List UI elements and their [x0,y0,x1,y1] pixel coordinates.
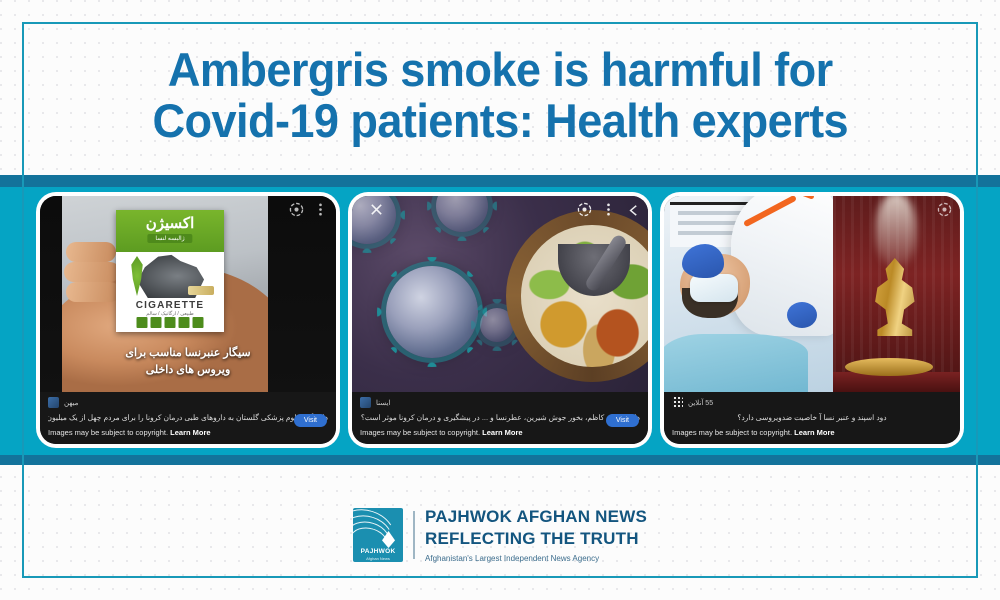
screenshot-card-row: اکسیژن ژالبسه لنسا CIGARETTE طبیعی / ارگ… [0,175,1000,465]
pack-badge-icon [137,317,148,328]
visit-button[interactable]: Visit [606,414,639,427]
card-2-source-row: ایسنا [360,397,640,408]
learn-more-link[interactable]: Learn More [482,428,522,437]
pack-badge: ژالبسه لنسا [147,234,192,243]
pajhwok-logo[interactable]: PAJHWOK Afghan News PAJHWOK AFGHAN NEWS … [353,506,647,563]
card-3-source-row: 55 آنلاین [672,397,952,408]
more-options-icon[interactable] [313,202,328,217]
lens-icon[interactable] [289,202,304,217]
logo-mark-name: PAJHWOK [353,548,403,555]
pack-label: CIGARETTE [116,300,224,311]
card-1-copyright: Images may be subject to copyright. Lear… [48,428,328,437]
favicon-icon [360,397,371,408]
card-3-caption-text: دود اسپند و عنبر نسا آ خاصیت ضدویروسی دا… [672,413,952,423]
brass-tray [845,358,933,376]
finger-shape [64,262,120,282]
learn-more-link[interactable]: Learn More [170,428,210,437]
lens-icon[interactable] [937,202,952,217]
logo-text-block: PAJHWOK AFGHAN NEWS REFLECTING THE TRUTH… [425,506,647,563]
logo-mark-sub: Afghan News [353,556,403,561]
card-2-toolbar [352,196,648,222]
bedsheet [664,334,808,392]
share-icon[interactable] [625,202,640,217]
cigarette-sticks [188,286,214,295]
pack-badge-icon [193,317,204,328]
card-3-toolbar [664,196,960,222]
pack-icon-row [137,317,204,328]
finger-shape [66,282,120,302]
screenshot-card-cigarette[interactable]: اکسیژن ژالبسه لنسا CIGARETTE طبیعی / ارگ… [40,196,336,444]
pack-badge-icon [179,317,190,328]
footer: PAJHWOK Afghan News PAJHWOK AFGHAN NEWS … [0,470,1000,600]
card-3-caption: 55 آنلاین دود اسپند و عنبر نسا آ خاصیت ض… [664,392,960,444]
oxygen-mask [690,274,738,302]
headline-line-1: Ambergris smoke is harmful for [168,45,833,96]
logo-tagline: REFLECTING THE TRUTH [425,528,647,550]
favicon-icon [672,397,683,408]
card-2-image [352,196,648,392]
card-1-image: اکسیژن ژالبسه لنسا CIGARETTE طبیعی / ارگ… [40,196,336,392]
lens-icon[interactable] [577,202,592,217]
pack-badge-icon [165,317,176,328]
card-2-caption: ایسنا داروی امام کاظم، بخور جوش شیرین، ع… [352,392,648,444]
card-1-caption: میهن دانشگاه علوم پزشکی گلستان به دارو‌ه… [40,392,336,444]
card-1-site-name: میهن [64,399,78,407]
visit-button[interactable]: Visit [294,414,327,427]
copyright-text: Images may be subject to copyright. [48,428,168,437]
screenshot-card-patient-incense[interactable]: 55 آنلاین دود اسپند و عنبر نسا آ خاصیت ض… [664,196,960,444]
logo-divider [413,511,415,559]
pajhwok-logo-mark: PAJHWOK Afghan News [353,508,403,562]
card-1-toolbar [40,196,336,222]
card-3-copyright: Images may be subject to copyright. Lear… [672,428,952,437]
copyright-text: Images may be subject to copyright. [672,428,792,437]
logo-title: PAJHWOK AFGHAN NEWS [425,506,647,528]
pack-badge-icon [151,317,162,328]
close-icon[interactable] [369,202,384,217]
finger-shape [66,242,116,262]
learn-more-link[interactable]: Learn More [794,428,834,437]
cigarette-pack: اکسیژن ژالبسه لنسا CIGARETTE طبیعی / ارگ… [116,210,224,332]
blue-glove [787,302,817,328]
favicon-icon [48,397,59,408]
overlay-line-1: سیگار عنبرنسا مناسب برای [40,345,336,362]
headline-line-2: Covid-19 patients: Health experts [152,96,848,147]
covid-patient-photo [664,196,833,392]
card-2-site-name: ایسنا [376,399,390,407]
screenshot-card-coronavirus[interactable]: ایسنا داروی امام کاظم، بخور جوش شیرین، ع… [352,196,648,444]
more-options-icon[interactable] [601,202,616,217]
overlay-line-2: ویروس های داخلی [40,362,336,379]
copyright-text: Images may be subject to copyright. [360,428,480,437]
card-2-copyright: Images may be subject to copyright. Lear… [360,428,640,437]
card-3-image [664,196,960,392]
virus-illustration [386,266,478,358]
card-1-overlay-text: سیگار عنبرنسا مناسب برای ویروس های داخلی [40,345,336,378]
card-3-site-name: 55 آنلاین [688,399,713,407]
blue-glove [682,244,724,278]
card-1-source-row: میهن [48,397,328,408]
incense-burner-photo [833,196,960,392]
card-1-caption-text: دانشگاه علوم پزشکی گلستان به دارو‌های طب… [48,413,328,423]
card-2-caption-text: داروی امام کاظم، بخور جوش شیرین، عطرنسا … [360,413,640,423]
logo-subtitle: Afghanistan's Largest Independent News A… [425,553,647,564]
page-title: Ambergris smoke is harmful for Covid-19 … [40,26,960,166]
